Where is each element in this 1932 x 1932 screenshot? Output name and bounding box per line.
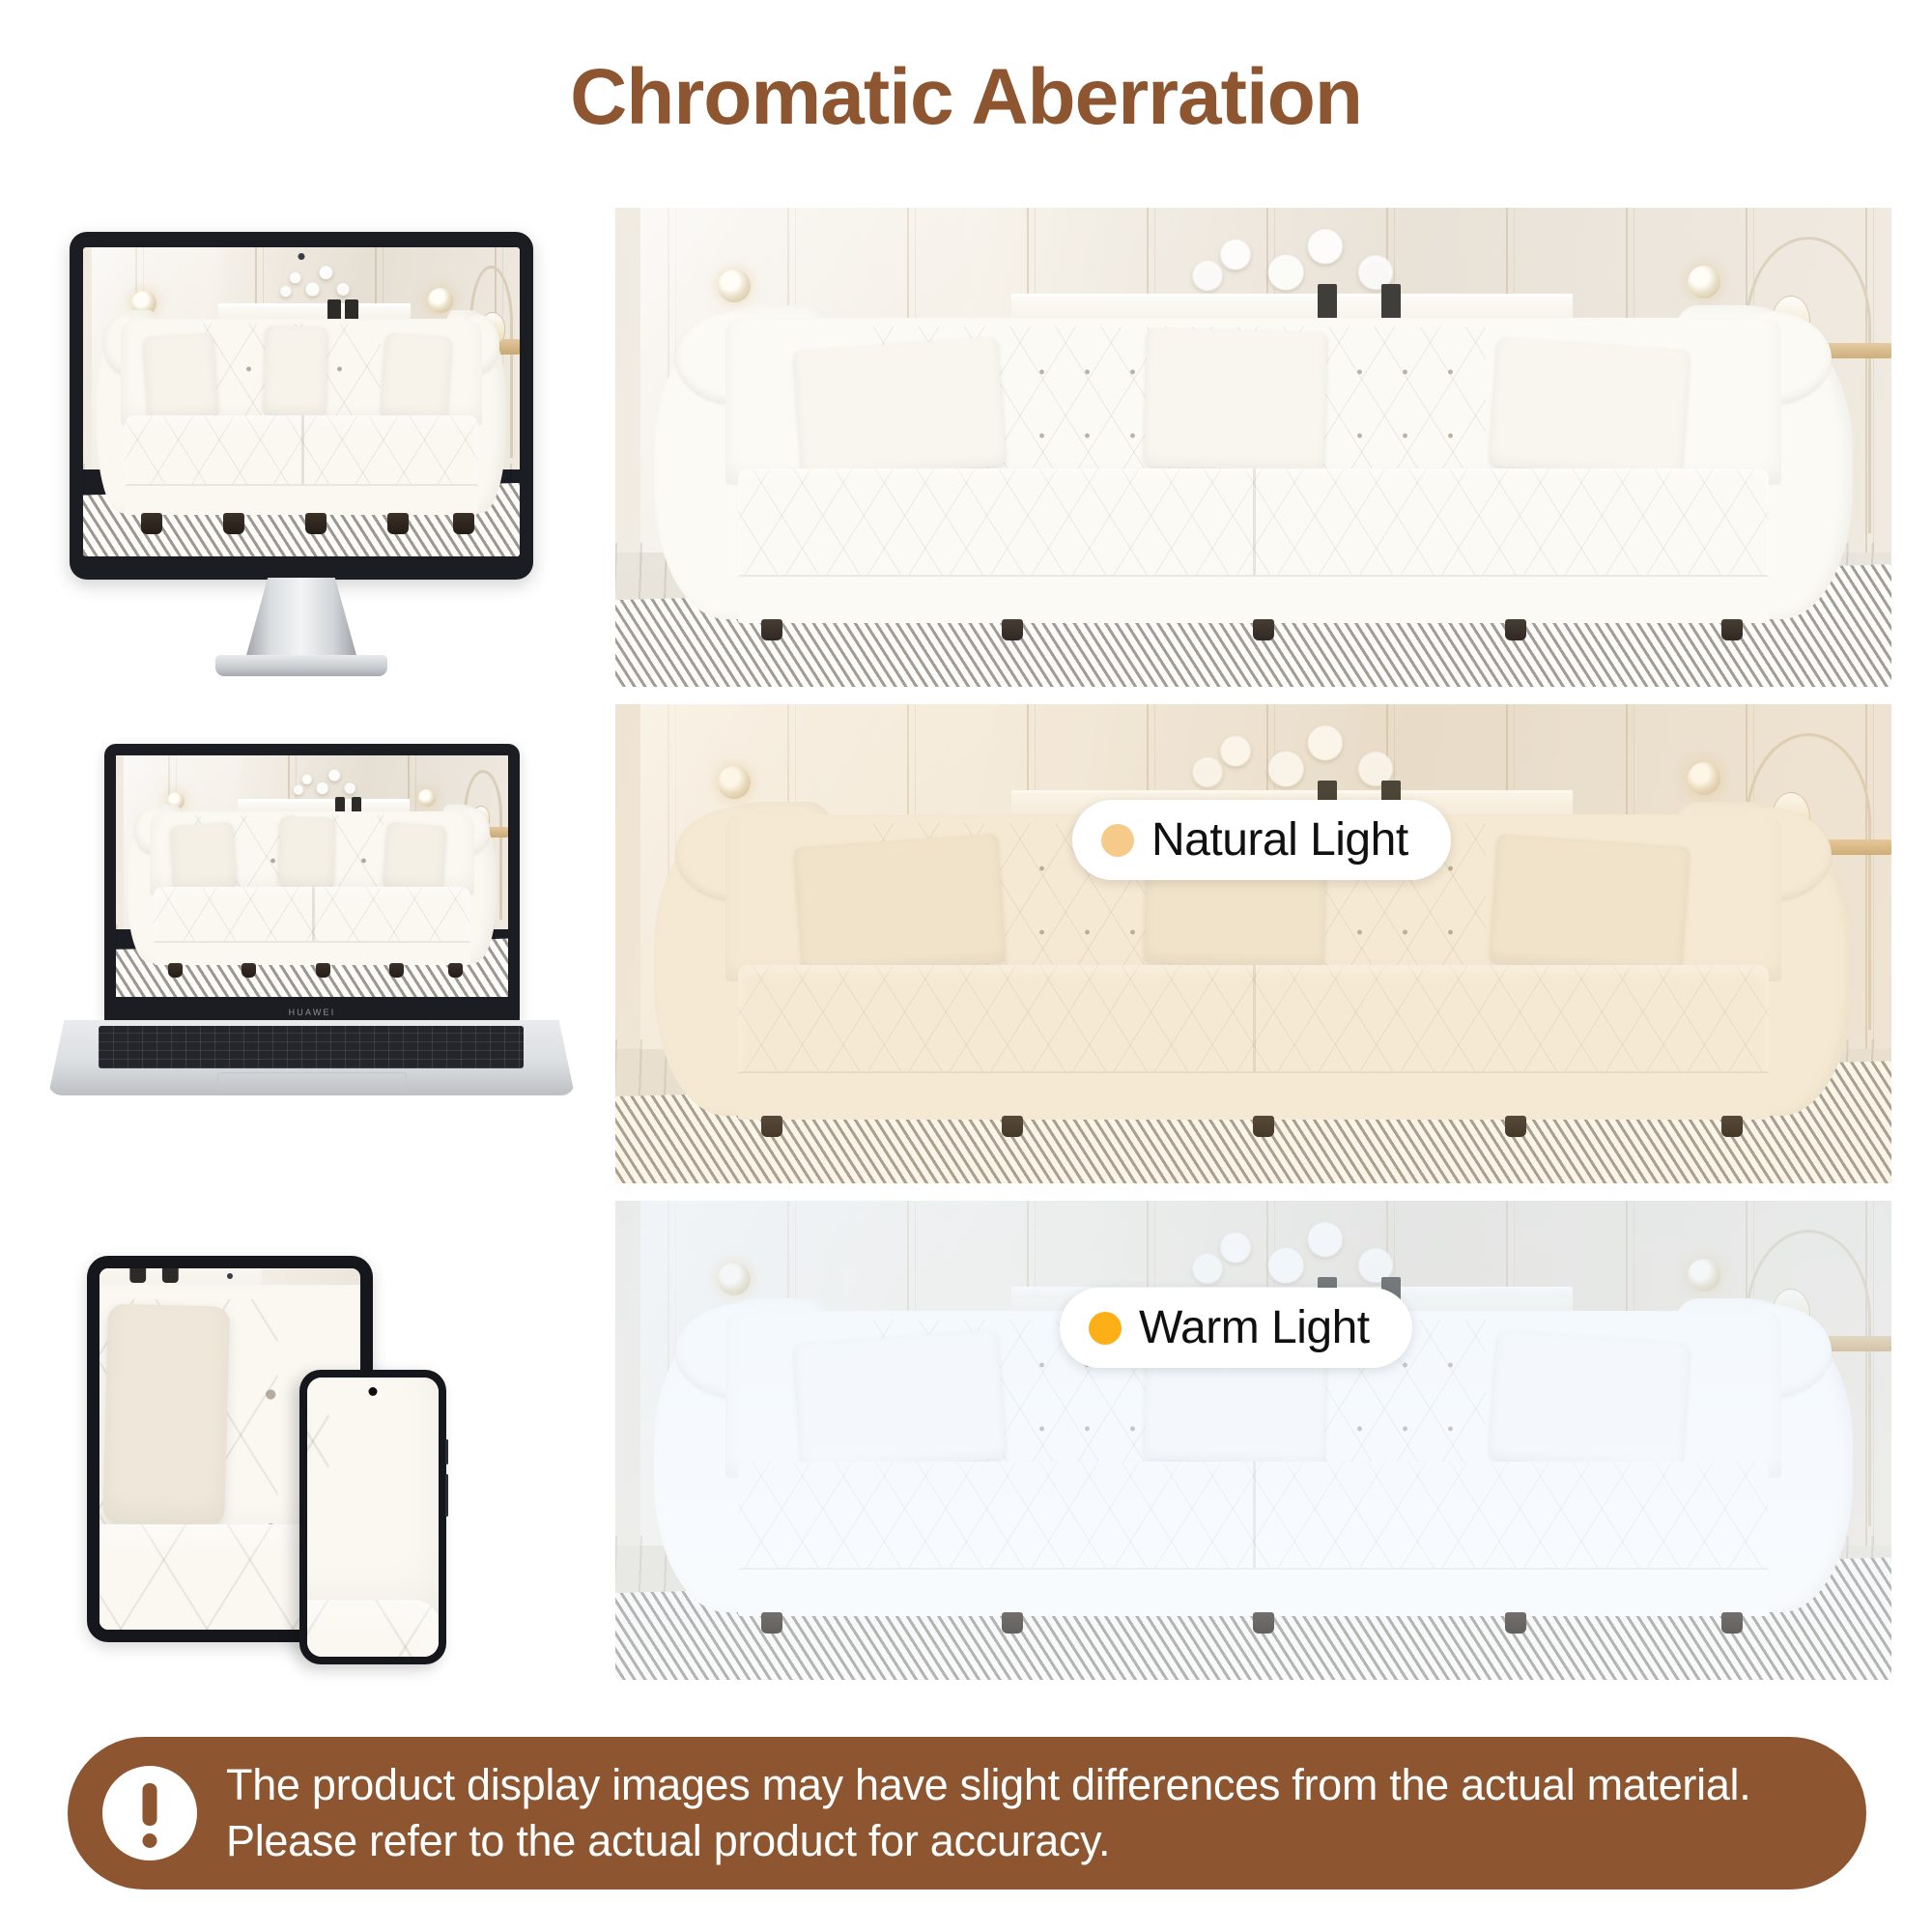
badge-natural-light-label: Natural Light [1151,813,1408,867]
smartphone-mockup [299,1370,446,1664]
disclaimer-line-1: The product display images may have slig… [226,1757,1750,1814]
sofa-photo-warm [615,704,1891,1183]
sofa-scene-thumb-phone [307,1378,439,1657]
sofa-scene-thumb-natural [83,247,520,556]
monitor-screen [83,247,520,556]
disclaimer-text: The product display images may have slig… [226,1757,1750,1870]
page-title: Chromatic Aberration [0,52,1932,143]
phone-screen [307,1378,439,1657]
disclaimer-line-2: Please refer to the actual product for a… [226,1813,1750,1870]
front-camera-icon [227,1273,233,1279]
disclaimer-banner: The product display images may have slig… [68,1737,1866,1889]
desktop-monitor-mockup [70,232,533,580]
sofa-photo-natural [615,208,1891,687]
laptop-base [48,1020,575,1095]
laptop-brand-label: HUAWEI [104,1008,520,1017]
monitor-stand-neck [245,578,357,659]
phone-volume-button[interactable] [445,1439,448,1464]
badge-natural-light[interactable]: Natural Light [1072,800,1451,880]
laptop-trackpad [217,1072,407,1092]
laptop-lid: HUAWEI [104,744,520,1022]
monitor-stand-base [215,655,387,676]
badge-warm-light-label: Warm Light [1139,1301,1370,1354]
badge-warm-light[interactable]: Warm Light [1060,1288,1412,1368]
device-mockups-column: HUAWEI [0,184,609,1690]
laptop-keyboard [99,1026,524,1068]
panel-natural-light [615,208,1891,687]
lighting-comparison-panels: Natural Light Warm Light Cold Light [615,208,1891,1690]
exclamation-circle-icon [102,1766,197,1861]
panel-cold-light [615,1201,1891,1680]
sofa-scene-thumb-laptop [116,755,508,997]
phone-power-button[interactable] [445,1474,448,1517]
marketing-image-root: Chromatic Aberration [0,0,1932,1932]
sofa-photo-cold [615,1201,1891,1680]
monitor-bezel [70,232,533,580]
laptop-mockup: HUAWEI [48,744,575,1092]
punch-hole-camera-icon [369,1387,378,1396]
webcam-icon [298,253,305,260]
panel-warm-light [615,704,1891,1183]
warm-light-dot-icon [1089,1312,1122,1345]
laptop-screen [116,755,508,997]
natural-light-dot-icon [1101,824,1134,857]
tablet-and-phone-mockups [87,1256,589,1681]
